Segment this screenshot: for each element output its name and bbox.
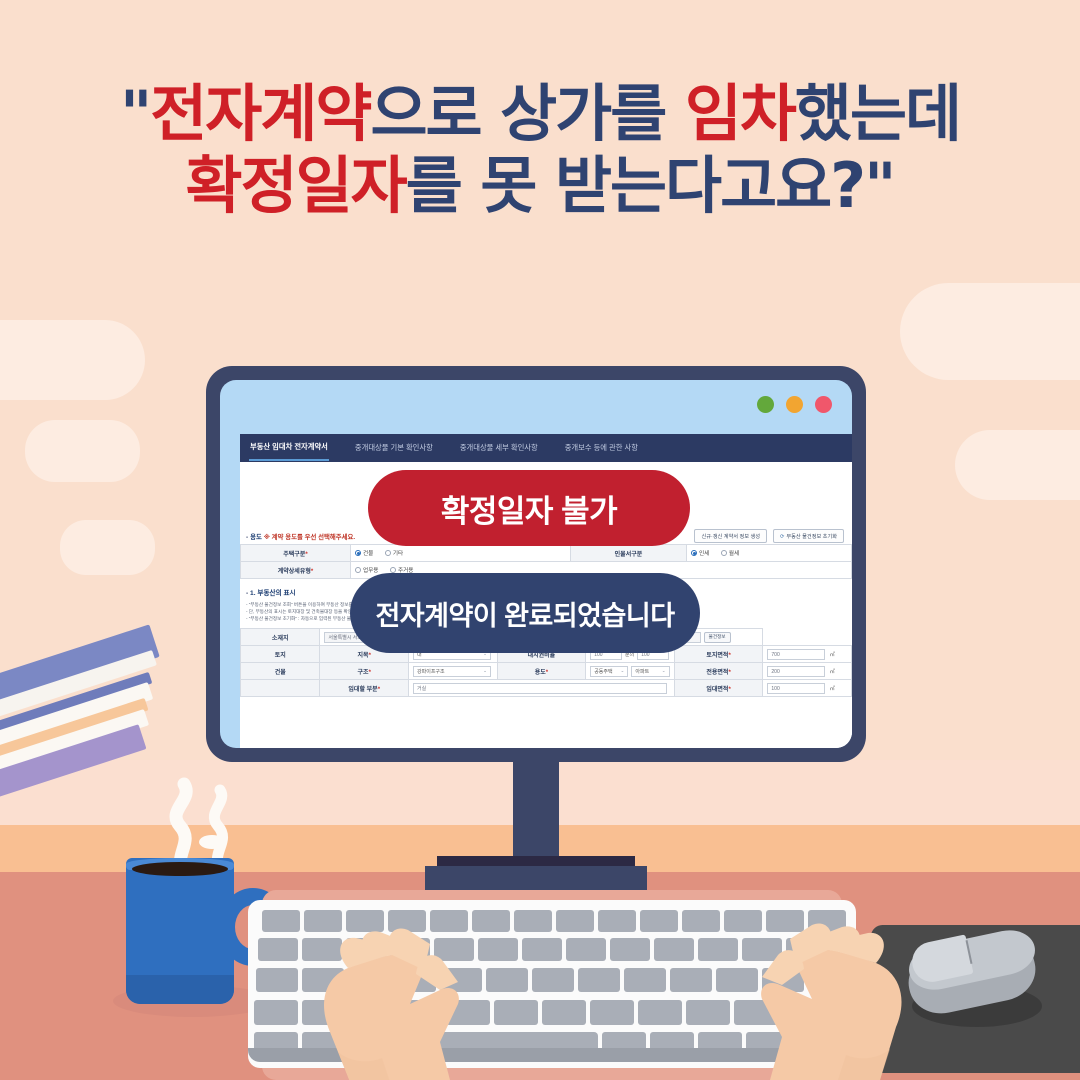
contract-kind-options: 인세 월세 (687, 545, 852, 562)
rental-area-cell: 100 ㎡ (763, 680, 852, 697)
contract-detail-type-label: 계약상세유형* (241, 562, 351, 579)
rental-part-label: 임대할 부분* (320, 680, 409, 697)
land-label: 토지 (241, 646, 320, 663)
housing-type-label: 주택구분* (241, 545, 351, 562)
left-hand (290, 912, 580, 1080)
rental-area-fields: 100 ㎡ (767, 683, 847, 694)
radio-dot (355, 550, 361, 556)
window-dot-green[interactable] (757, 396, 774, 413)
right-hand (640, 905, 940, 1080)
table-row: 건물 구조* 강파이프구조⌄ 용도* 공동주택⌄ 아파트⌄ 전용면적* (241, 663, 852, 680)
exclusive-area-input[interactable]: 200 (767, 666, 824, 677)
usage-select-secondary[interactable]: 아파트⌄ (631, 666, 669, 677)
monitor-screen: 부동산 임대차 전자계약서 중개대상물 기본 확인사항 중개대상물 세부 확인사… (220, 380, 852, 748)
land-area-fields: 700 ㎡ (767, 649, 847, 660)
radio-dot (691, 550, 697, 556)
quote-open: " (120, 77, 150, 150)
window-dot-orange[interactable] (786, 396, 803, 413)
reset-button-label: 부동산 물건정보 초기화 (786, 534, 837, 540)
table-row: 주택구분* 건물 기타 인물서구분 인세 월세 (241, 545, 852, 562)
usage-fields: 공동주택⌄ 아파트⌄ (590, 666, 670, 677)
rental-area-unit: ㎡ (830, 685, 835, 692)
status-badge-date-unavailable: 확정일자 불가 (368, 470, 690, 546)
structure-select[interactable]: 강파이프구조⌄ (413, 666, 491, 677)
background-blob (0, 320, 145, 400)
radio-dot (390, 567, 396, 573)
structure-label: 구조* (320, 663, 409, 680)
headline-navy-4: 를 못 받는다고요? (406, 149, 864, 222)
empty-cell (241, 680, 320, 697)
use-note: ※ 계약 용도를 우선 선택해주세요. (264, 534, 356, 541)
rental-part-cell: 거실 (409, 680, 675, 697)
section-dash: - (246, 590, 248, 597)
land-area-input[interactable]: 700 (767, 649, 824, 660)
exclusive-area-fields: 200 ㎡ (767, 666, 847, 677)
quote-close: " (864, 149, 894, 222)
window-dot-red[interactable] (815, 396, 832, 413)
usage-cell: 공동주택⌄ 아파트⌄ (586, 663, 675, 680)
land-area-cell: 700 ㎡ (763, 646, 852, 663)
tab-brokerage-fee[interactable]: 중개보수 등에 관한 사항 (564, 437, 639, 460)
section-title-text: 1. 부동산의 표시 (250, 590, 296, 597)
land-area-label: 토지면적* (674, 646, 763, 663)
use-section-buttons: 신규·갱신 계약서 정보 생성 ⟳부동산 물건정보 초기화 (694, 529, 844, 543)
rental-area-label: 임대면적* (674, 680, 763, 697)
exclusive-area-cell: 200 ㎡ (763, 663, 852, 680)
radio-dot (721, 550, 727, 556)
radio-dot (385, 550, 391, 556)
exclusive-area-unit: ㎡ (830, 668, 835, 675)
coffee-surface (132, 862, 228, 876)
building-label: 건물 (241, 663, 320, 680)
status-badge-contract-completed: 전자계약이 완료되었습니다 (350, 573, 700, 653)
radio-dot (355, 567, 361, 573)
headline-line-2: 확정일자를 못 받는다고요?" (0, 150, 1080, 222)
headline-red-1: 전자계약 (150, 77, 370, 150)
tab-basic-check[interactable]: 중개대상물 기본 확인사항 (354, 437, 434, 460)
refresh-icon: ⟳ (780, 534, 784, 540)
usage-label: 용도* (497, 663, 586, 680)
monitor: 부동산 임대차 전자계약서 중개대상물 기본 확인사항 중개대상물 세부 확인사… (206, 366, 866, 762)
contract-kind-label: 인물서구분 (570, 545, 686, 562)
exclusive-area-label: 전용면적* (674, 663, 763, 680)
headline: "전자계약으로 상가를 임차했는데 확정일자를 못 받는다고요?" (0, 78, 1080, 222)
rental-part-input[interactable]: 거실 (413, 683, 667, 694)
reset-property-info-button[interactable]: ⟳부동산 물건정보 초기화 (773, 529, 844, 543)
headline-red-2: 임차 (685, 77, 795, 150)
create-contract-info-button[interactable]: 신규·갱신 계약서 정보 생성 (694, 529, 767, 543)
radio-business-use[interactable]: 업무용 (355, 566, 378, 574)
headline-navy-3: 했는데 (795, 77, 960, 150)
background-blob (955, 430, 1080, 500)
radio-jeonse[interactable]: 인세 (691, 549, 709, 557)
headline-navy-2: 상가를 (500, 77, 685, 150)
table-row: 임대할 부분* 거실 임대면적* 100 ㎡ (241, 680, 852, 697)
address-label: 소재지 (241, 629, 320, 646)
monitor-stand-neck (513, 752, 559, 870)
chevron-down-icon: ⌄ (662, 668, 666, 674)
land-area-unit: ㎡ (830, 651, 835, 658)
headline-navy-1: 으로 (370, 77, 500, 150)
headline-line-1: "전자계약으로 상가를 임차했는데 (0, 78, 1080, 150)
use-section-label: -용도 ※ 계약 용도를 우선 선택해주세요. (246, 532, 355, 541)
rental-area-input[interactable]: 100 (767, 683, 824, 694)
structure-cell: 강파이프구조⌄ (409, 663, 498, 680)
section-dash: - (246, 534, 248, 541)
tab-lease-contract[interactable]: 부동산 임대차 전자계약서 (249, 436, 329, 461)
tab-detail-check[interactable]: 중개대상물 세부 확인사항 (459, 437, 539, 460)
radio-monthly[interactable]: 월세 (721, 549, 739, 557)
background-blob (900, 283, 1080, 380)
background-blob (25, 420, 140, 482)
use-label-text: 용도 (250, 534, 262, 541)
chevron-down-icon: ⌄ (483, 668, 487, 674)
radio-other[interactable]: 기타 (385, 549, 403, 557)
headline-red-3: 확정일자 (186, 149, 406, 222)
housing-type-options: 건물 기타 (350, 545, 570, 562)
usage-select-primary[interactable]: 공동주택⌄ (590, 666, 628, 677)
chevron-down-icon: ⌄ (621, 668, 625, 674)
mug-base (126, 975, 234, 1004)
background-blob (60, 520, 155, 575)
tab-bar: 부동산 임대차 전자계약서 중개대상물 기본 확인사항 중개대상물 세부 확인사… (240, 434, 852, 462)
radio-building[interactable]: 건물 (355, 549, 373, 557)
window-controls[interactable] (757, 396, 832, 413)
property-info-button[interactable]: 물건정보 (704, 632, 731, 643)
